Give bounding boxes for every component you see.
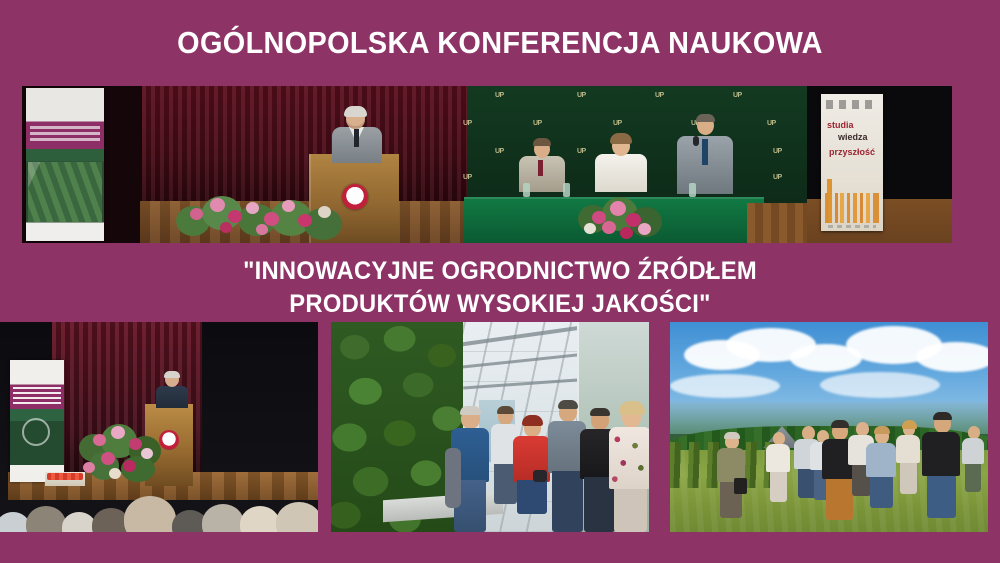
subtitle-line-1: "INNOWACYJNE OGRODNICTWO ŹRÓDŁEM — [25, 255, 975, 288]
page-subtitle: "INNOWACYJNE OGRODNICTWO ŹRÓDŁEM PRODUKT… — [25, 255, 975, 320]
water-bottle — [523, 183, 531, 197]
backdrop-logo-up: UP — [463, 174, 485, 183]
panelist-standing-with-microphone — [675, 112, 735, 194]
participant-far-right — [962, 426, 984, 492]
backdrop-logo-up: UP — [577, 92, 599, 101]
speaker-figure — [330, 108, 384, 160]
rollup-banner-left — [26, 88, 104, 241]
speaker-figure — [155, 372, 189, 406]
banner-emblem-icon — [22, 418, 50, 446]
rollup-banner — [10, 360, 64, 482]
participant-beige — [896, 422, 920, 494]
backdrop-logo-up: UP — [613, 120, 635, 129]
backdrop-logo-up: UP — [773, 174, 795, 183]
photo-field-visit — [670, 322, 988, 532]
backdrop-logo-up: UP — [733, 92, 755, 101]
rollup-logos — [826, 100, 878, 109]
backdrop-logo-up: UP — [767, 120, 789, 129]
backdrop-logo-up: UP — [463, 120, 485, 129]
flower-arrangement — [75, 412, 167, 482]
rollup-footer-text — [828, 225, 876, 228]
water-bottle — [563, 183, 571, 197]
scene-rollup: studia wiedza przyszłość — [807, 86, 952, 243]
banner-title-text — [13, 387, 61, 405]
photo-greenhouse-tour — [331, 322, 649, 532]
flower-arrangement-left — [172, 178, 347, 243]
visitor-red-jacket — [513, 418, 551, 532]
participant-white-top — [766, 432, 790, 502]
page-title: OGÓLNOPOLSKA KONFERENCJA NAUKOWA — [35, 26, 965, 59]
panelist-seated-center — [595, 134, 647, 192]
visitor-floral-blouse — [609, 404, 649, 532]
rollup-skyline-graphic — [825, 193, 879, 223]
flower-arrangement-center — [572, 185, 668, 243]
visitor-blue-shirt — [449, 408, 491, 532]
cloud — [670, 374, 780, 398]
water-bottle — [689, 183, 697, 197]
audience-foreground — [0, 476, 318, 532]
backdrop-logo-up: UP — [495, 148, 517, 157]
rollup-word-przyszlosc: przyszłość — [829, 147, 875, 157]
cloud — [820, 372, 940, 398]
subtitle-line-2: PRODUKTÓW WYSOKIEJ JAKOŚCI" — [25, 288, 975, 321]
backdrop-logo-up: UP — [773, 148, 795, 157]
rollup-word-studia: studia — [827, 120, 854, 130]
photo-conference-hall-and-panel: UP UP UP UP UP UP UP UP UP UP UP UP UP U… — [22, 86, 952, 243]
backdrop-logo-up: UP — [655, 92, 677, 101]
cloud — [916, 342, 988, 372]
poster-root: OGÓLNOPOLSKA KONFERENCJA NAUKOWA — [0, 0, 1000, 563]
scene-panel: UP UP UP UP UP UP UP UP UP UP UP UP UP U… — [467, 86, 807, 243]
participant-olive-shirt — [716, 434, 746, 518]
rollup-word-wiedza: wiedza — [838, 132, 868, 142]
participant-blue-blouse — [866, 428, 896, 508]
backdrop-logo-up: UP — [533, 120, 555, 129]
rollup-banner-right: studia wiedza przyszłość — [821, 94, 883, 231]
participant-black-polo-foreground — [922, 414, 960, 518]
microphone-icon — [693, 136, 699, 146]
stage-floor-right — [747, 203, 807, 243]
photo-auditorium-wide — [0, 322, 318, 532]
backdrop-logo-up: UP — [495, 92, 517, 101]
scene-podium — [22, 86, 467, 243]
